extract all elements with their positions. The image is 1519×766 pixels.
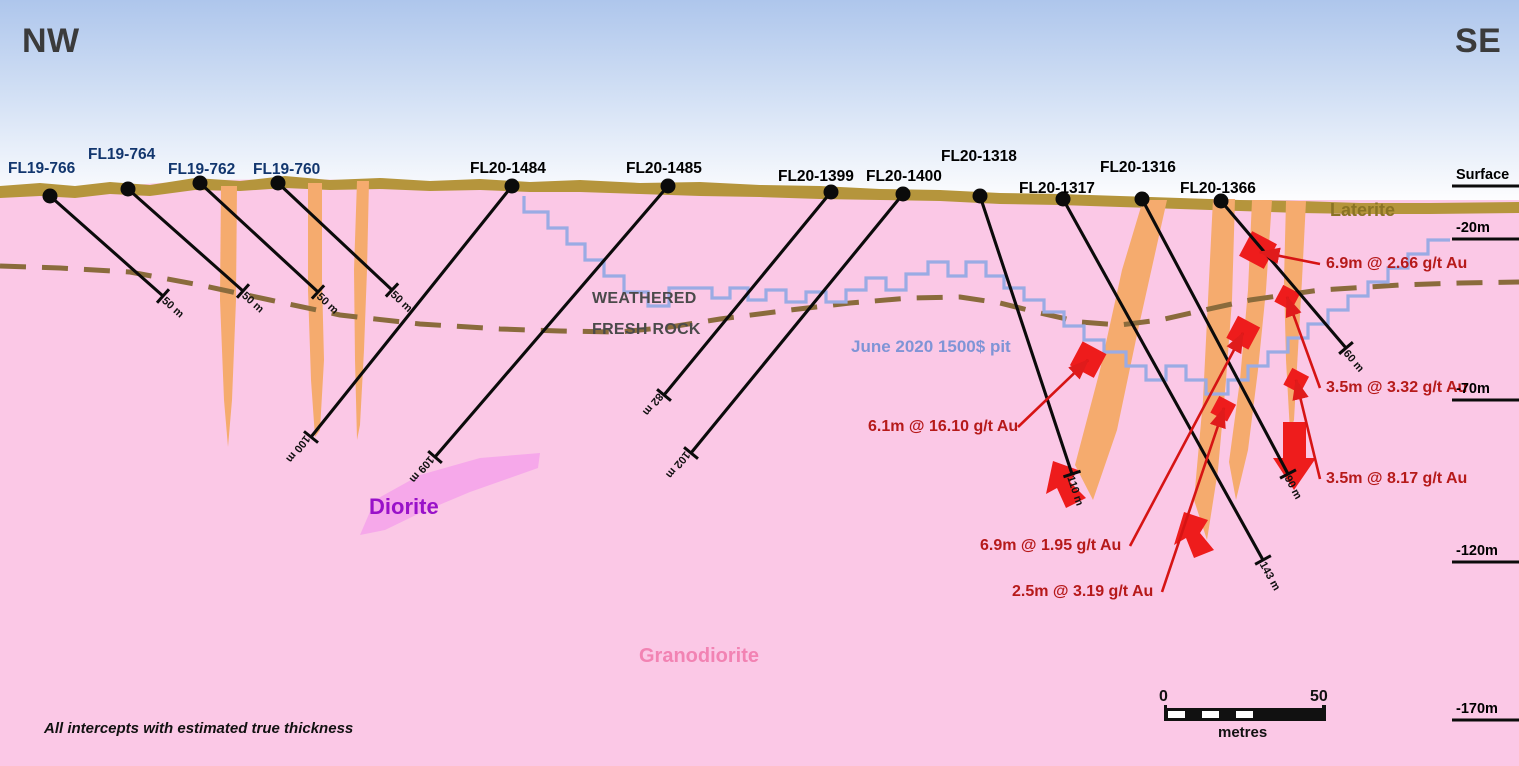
scale-start-label: 0 xyxy=(1159,688,1168,706)
drillhole-collar[interactable] xyxy=(1135,192,1150,207)
weathered-label: WEATHERED xyxy=(592,290,697,308)
depth-axis-label: -20m xyxy=(1456,220,1490,236)
compass-label-nw: NW xyxy=(22,22,80,61)
drillhole-collar[interactable] xyxy=(896,187,911,202)
fresh-rock-label: FRESH ROCK xyxy=(592,321,701,339)
drillhole-label-fl20-1485: FL20-1485 xyxy=(626,160,702,178)
pit-outline-label: June 2020 1500$ pit xyxy=(851,337,1011,357)
drillhole-collar[interactable] xyxy=(661,179,676,194)
drillhole-collar[interactable] xyxy=(824,185,839,200)
laterite-label: Laterite xyxy=(1330,200,1395,221)
footnote-label: All intercepts with estimated true thick… xyxy=(44,720,353,737)
assay-label: 6.9m @ 2.66 g/t Au xyxy=(1326,255,1467,273)
drillhole-label-fl20-1400: FL20-1400 xyxy=(866,168,942,186)
granodiorite-label: Granodiorite xyxy=(639,645,759,668)
assay-label: 6.1m @ 16.10 g/t Au xyxy=(868,418,1018,436)
drillhole-label-fl19-764: FL19-764 xyxy=(88,146,155,164)
drillhole-collar[interactable] xyxy=(43,189,58,204)
scale-unit-label: metres xyxy=(1218,724,1267,741)
drillhole-label-fl20-1484: FL20-1484 xyxy=(470,160,546,178)
drillhole-label-fl19-762: FL19-762 xyxy=(168,161,235,179)
assay-label: 6.9m @ 1.95 g/t Au xyxy=(980,537,1121,555)
drillhole-label-fl20-1399: FL20-1399 xyxy=(778,168,854,186)
assay-label: 3.5m @ 8.17 g/t Au xyxy=(1326,470,1467,488)
depth-axis-label: -170m xyxy=(1456,701,1498,717)
drillhole-collar[interactable] xyxy=(121,182,136,197)
drillhole-label-fl20-1316: FL20-1316 xyxy=(1100,159,1176,177)
scale-end-label: 50 xyxy=(1310,688,1328,706)
drillhole-collar[interactable] xyxy=(505,179,520,194)
cross-section-svg xyxy=(0,0,1519,766)
drillhole-collar[interactable] xyxy=(973,189,988,204)
assay-label: 2.5m @ 3.19 g/t Au xyxy=(1012,583,1153,601)
drillhole-label-fl20-1317: FL20-1317 xyxy=(1019,180,1095,198)
depth-axis-label: -120m xyxy=(1456,543,1498,559)
compass-label-se: SE xyxy=(1455,22,1501,61)
drillhole-label-fl19-760: FL19-760 xyxy=(253,161,320,179)
cross-section-figure: NW SE WEATHERED FRESH ROCK June 2020 150… xyxy=(0,0,1519,766)
drillhole-label-fl19-766: FL19-766 xyxy=(8,160,75,178)
drillhole-label-fl20-1366: FL20-1366 xyxy=(1180,180,1256,198)
drillhole-label-fl20-1318: FL20-1318 xyxy=(941,148,1017,166)
depth-axis-label: -70m xyxy=(1456,381,1490,397)
assay-label: 3.5m @ 3.32 g/t Au xyxy=(1326,379,1467,397)
depth-axis-label: Surface xyxy=(1456,167,1509,183)
diorite-label: Diorite xyxy=(369,494,439,520)
